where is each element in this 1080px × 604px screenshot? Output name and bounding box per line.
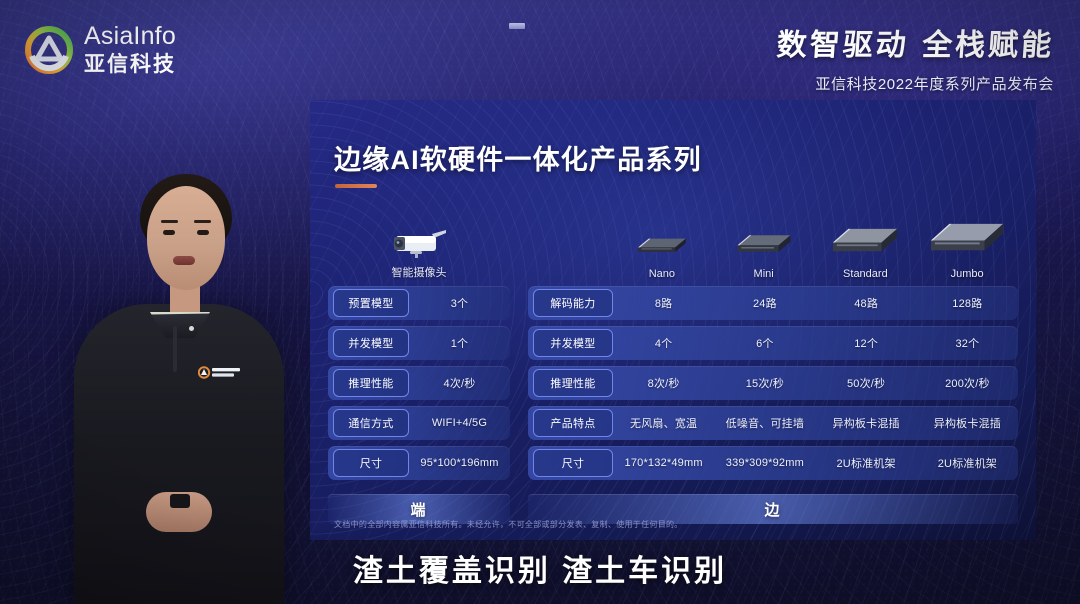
cell-value: 8路 [613,295,714,311]
presenter-eye-left [163,230,175,235]
product-caption: Standard [843,268,888,280]
cell-value: 低噪音、可挂墙 [714,415,815,431]
row-label: 推理性能 [348,375,393,391]
table-row: 推理性能 8次/秒 15次/秒 50次/秒 200次/秒 [528,366,1018,400]
cell-value: WIFI+4/5G [409,417,510,429]
footer-label: 边 [764,499,781,520]
cell-value: 2U标准机架 [917,455,1018,471]
product-caption: 智能摄像头 [392,264,447,280]
row-values: 1个 [409,326,510,360]
server-jumbo-icon [926,219,1008,263]
cell-value: 48路 [816,295,917,311]
asiainfo-brand-lockup: AsiaInfo 亚信科技 [24,24,176,75]
slide-panel: 边缘AI软硬件一体化产品系列 [310,100,1036,540]
table-row: 推理性能 4次/秒 [328,366,510,400]
row-label: 尺寸 [360,455,383,471]
brand-name-en: AsiaInfo [84,24,176,49]
cell-value: 128路 [917,295,1018,311]
server-table: Nano Mini [528,218,1018,524]
cell-value: 4个 [613,335,714,351]
slide-copyright-notice: 文档中的全部内容属亚信科技所有。未经允许，不可全部或部分发表、复制、使用于任何目… [334,519,683,530]
row-label-pill: 通信方式 [333,409,409,437]
row-label-pill: 产品特点 [533,409,613,437]
cell-value: 339*309*92mm [714,457,815,469]
cell-value: 32个 [917,335,1018,351]
event-subtitle: 亚信科技2022年度系列产品发布会 [777,73,1054,94]
cell-value: 无风扇、宽温 [613,415,714,431]
product-header-jumbo: Jumbo [916,219,1018,280]
cell-value: 异构板卡混插 [816,415,917,431]
row-label-pill: 并发模型 [533,329,613,357]
event-title-block: 数智驱动 全栈赋能 亚信科技2022年度系列产品发布会 [777,20,1054,94]
cell-value: 4次/秒 [409,375,510,391]
row-label: 尺寸 [562,455,585,471]
cell-value: 12个 [816,335,917,351]
caption-text: 渣土覆盖识别 渣土车识别 [353,555,727,588]
cell-value: 1个 [409,335,510,351]
cell-value: 95*100*196mm [409,457,510,469]
server-nano-icon [631,228,693,263]
product-caption: Nano [649,268,675,280]
presenter-eye-right [197,230,209,235]
presenter-lapel-mic-icon [189,326,194,331]
asiainfo-ring-logo-icon [24,25,74,75]
ip-camera-icon [388,229,450,259]
table-row: 并发模型 1个 [328,326,510,360]
device-table-headers: 智能摄像头 [328,218,510,280]
row-values: 无风扇、宽温 低噪音、可挂墙 异构板卡混插 异构板卡混插 [613,406,1018,440]
presenter-placket [173,326,177,372]
cell-value: 15次/秒 [714,375,815,391]
row-values: 170*132*49mm 339*309*92mm 2U标准机架 2U标准机架 [613,446,1018,480]
table-row: 尺寸 170*132*49mm 339*309*92mm 2U标准机架 2U标准… [528,446,1018,480]
row-values: 95*100*196mm [409,446,510,480]
row-label: 并发模型 [550,335,595,351]
server-table-headers: Nano Mini [528,218,1018,280]
row-label-pill: 推理性能 [333,369,409,397]
row-label: 通信方式 [348,415,393,431]
brand-name-cn: 亚信科技 [84,54,176,75]
product-caption: Mini [754,268,774,280]
cell-value: 50次/秒 [816,375,917,391]
bottom-caption: 渣土覆盖识别 渣土车识别 [0,546,1080,590]
table-row: 解码能力 8路 24路 48路 128路 [528,286,1018,320]
cell-value: 8次/秒 [613,375,714,391]
cell-value: 170*132*49mm [613,457,714,469]
table-row: 尺寸 95*100*196mm [328,446,510,480]
row-label-pill: 并发模型 [333,329,409,357]
product-header-mini: Mini [713,227,815,280]
table-row: 产品特点 无风扇、宽温 低噪音、可挂墙 异构板卡混插 异构板卡混插 [528,406,1018,440]
cell-value: 6个 [714,335,815,351]
product-tables: 智能摄像头 预置模型 3个 并发模型 1个 推理性能 [328,218,1018,524]
row-label-pill: 预置模型 [333,289,409,317]
presenter-brow-left [161,220,178,223]
title-underline-rule [335,184,377,188]
row-label: 产品特点 [550,415,595,431]
product-header-nano: Nano [611,228,713,280]
slide-title: 边缘AI软硬件一体化产品系列 [334,138,702,177]
row-label: 解码能力 [550,295,595,311]
row-values: 4次/秒 [409,366,510,400]
product-caption: Jumbo [951,268,984,280]
event-slogan: 数智驱动 全栈赋能 [775,20,1056,64]
presenter-collar [150,312,210,338]
row-values: 8次/秒 15次/秒 50次/秒 200次/秒 [613,366,1018,400]
row-label-pill: 解码能力 [533,289,613,317]
top-center-dash-marker [509,23,525,29]
presenter-shirt-logo-icon [198,366,242,379]
row-values: WIFI+4/5G [409,406,510,440]
product-header-camera: 智能摄像头 [328,229,510,280]
product-header-standard: Standard [815,223,917,280]
server-mini-icon [731,227,797,263]
cell-value: 24路 [714,295,815,311]
row-values: 8路 24路 48路 128路 [613,286,1018,320]
presenter-brow-right [194,220,211,223]
cell-value: 异构板卡混插 [917,415,1018,431]
table-row: 预置模型 3个 [328,286,510,320]
row-label: 预置模型 [348,295,393,311]
row-label-pill: 推理性能 [533,369,613,397]
cell-value: 200次/秒 [917,375,1018,391]
device-table: 智能摄像头 预置模型 3个 并发模型 1个 推理性能 [328,218,510,524]
row-label-pill: 尺寸 [533,449,613,477]
row-label: 并发模型 [348,335,393,351]
footer-label: 端 [410,499,427,520]
presentation-video-frame: AsiaInfo 亚信科技 数智驱动 全栈赋能 亚信科技2022年度系列产品发布… [0,0,1080,604]
presenter-figure [52,124,302,604]
row-label-pill: 尺寸 [333,449,409,477]
row-values: 4个 6个 12个 32个 [613,326,1018,360]
row-label: 推理性能 [550,375,595,391]
cell-value: 3个 [409,295,510,311]
row-values: 3个 [409,286,510,320]
presenter-clicker [170,494,190,508]
presenter-head [147,186,225,290]
server-standard-icon [828,223,902,263]
cell-value: 2U标准机架 [816,455,917,471]
table-row: 通信方式 WIFI+4/5G [328,406,510,440]
table-row: 并发模型 4个 6个 12个 32个 [528,326,1018,360]
presenter-mouth [173,256,195,265]
